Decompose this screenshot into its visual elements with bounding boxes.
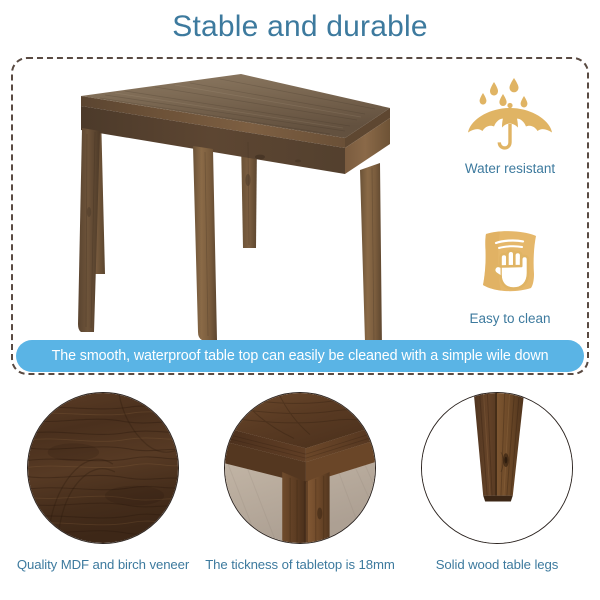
feature-easy-to-clean: Easy to clean [430, 222, 590, 328]
detail-caption: Solid wood table legs [402, 556, 592, 574]
table-leg-closeup [421, 392, 573, 544]
infographic-page: Stable and durable [0, 0, 600, 600]
detail-solid-wood-legs: Solid wood table legs [402, 392, 592, 574]
feature-water-resistant: Water resistant [430, 72, 590, 178]
detail-quality-mdf-birch-veneer: Quality MDF and birch veneer [8, 392, 198, 574]
square-dining-table-photo [45, 62, 430, 342]
umbrella-rain-icon [430, 72, 590, 154]
table-corner-closeup [224, 392, 376, 544]
detail-caption: Quality MDF and birch veneer [8, 556, 198, 574]
hand-wiping-cloth-icon [430, 222, 590, 304]
info-banner-text: The smooth, waterproof table top can eas… [52, 347, 549, 365]
detail-tabletop-thickness: The tickness of tabletop is 18mm [205, 392, 395, 574]
info-banner: The smooth, waterproof table top can eas… [16, 340, 584, 372]
detail-caption: The tickness of tabletop is 18mm [205, 556, 395, 574]
wood-grain-closeup [27, 392, 179, 544]
feature-label: Easy to clean [430, 310, 590, 328]
page-title: Stable and durable [0, 8, 600, 46]
feature-label: Water resistant [430, 160, 590, 178]
